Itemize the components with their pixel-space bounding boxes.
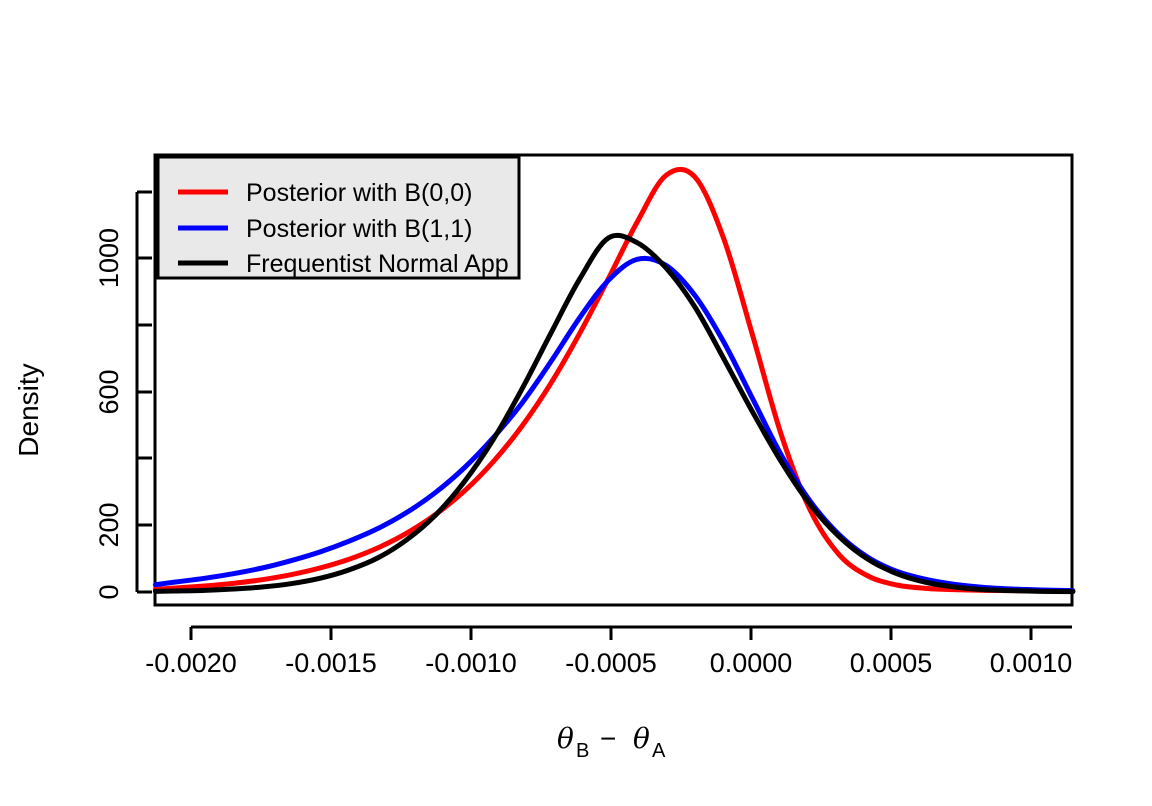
y-tick-label-200: 200 (94, 502, 124, 547)
x-tick-label-3: -0.0005 (565, 648, 657, 678)
y-axis-title: Density (13, 363, 44, 456)
curve-posterior-with-b-1-1 (155, 258, 1072, 590)
y-tick-label-1000: 1000 (94, 228, 124, 288)
x-tick-label-1: -0.0015 (285, 648, 377, 678)
x-axis-title-minus: − (600, 723, 616, 754)
x-tick-label-2: -0.0010 (425, 648, 517, 678)
x-axis-title-sub-a: A (652, 740, 666, 762)
x-axis-title: θ B − θ A (557, 722, 666, 762)
curve-frequentist-normal-app (155, 235, 1072, 591)
density-plot-figure: -0.0020 -0.0015 -0.0010 -0.0005 0.0000 0… (0, 0, 1152, 806)
plot-canvas: -0.0020 -0.0015 -0.0010 -0.0005 0.0000 0… (0, 0, 1152, 806)
legend: Posterior with B(0,0) Posterior with B(1… (158, 157, 519, 278)
y-axis-tick-labels: 0 200 600 1000 (94, 228, 124, 600)
legend-label-frequentist: Frequentist Normal App (246, 250, 509, 278)
legend-label-posterior-b11: Posterior with B(1,1) (246, 215, 472, 243)
legend-label-posterior-b00: Posterior with B(0,0) (246, 179, 472, 207)
x-axis-ticks (191, 627, 1031, 640)
x-axis-title-sub-b: B (576, 740, 589, 762)
y-axis-ticks (137, 192, 152, 592)
x-axis-tick-labels: -0.0020 -0.0015 -0.0010 -0.0005 0.0000 0… (145, 648, 1072, 678)
x-tick-label-4: 0.0000 (710, 648, 793, 678)
x-tick-label-0: -0.0020 (145, 648, 237, 678)
y-tick-label-0: 0 (94, 584, 124, 599)
y-tick-label-600: 600 (94, 369, 124, 414)
x-axis-title-theta-b: θ (557, 722, 574, 755)
x-tick-label-5: 0.0005 (850, 648, 933, 678)
x-tick-label-6: 0.0010 (990, 648, 1073, 678)
x-axis-title-theta-a: θ (633, 722, 650, 755)
